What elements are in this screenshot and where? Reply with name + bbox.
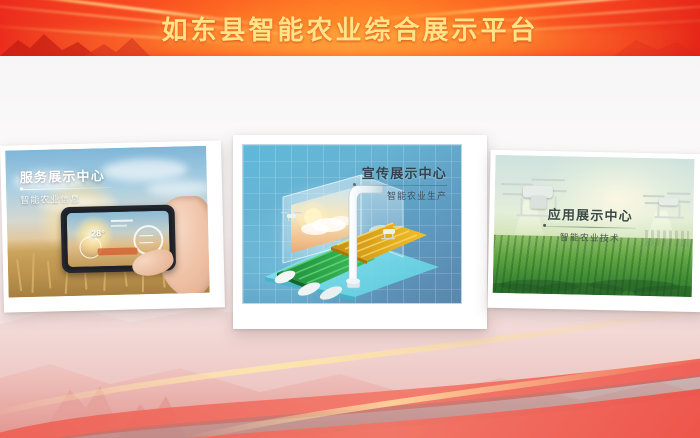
card-service-center[interactable]: 28° 服务展示中心 智能农业信息 [0, 140, 225, 312]
page-root: 如东县智能农业综合展示平台 [0, 0, 700, 438]
title-divider [20, 187, 112, 190]
card-service-center-text: 服务展示中心 智能农业信息 [20, 165, 113, 206]
title-divider [355, 185, 447, 186]
card-subtitle: 智能农业生产 [355, 189, 447, 202]
card-publicity-center-image: 宣传展示中心 智能农业生产 [242, 144, 462, 304]
header-banner: 如东县智能农业综合展示平台 [0, 0, 700, 56]
page-title: 如东县智能农业综合展示平台 [0, 0, 700, 56]
city-skyline [645, 230, 689, 247]
card-title: 应用展示中心 [544, 204, 636, 225]
card-title: 服务展示中心 [20, 165, 112, 186]
card-title: 宣传展示中心 [355, 163, 447, 182]
bullet-dot [353, 183, 356, 186]
hud-panel [98, 247, 138, 255]
title-divider [544, 226, 636, 229]
hud-line [111, 220, 133, 223]
card-service-center-image: 28° 服务展示中心 智能农业信息 [5, 146, 210, 298]
card-publicity-center-text: 宣传展示中心 智能农业生产 [355, 163, 447, 202]
card-application-center-image: 应用展示中心 智能农业技术 [493, 155, 695, 297]
hud-line [111, 225, 127, 227]
bullet-dot [20, 187, 23, 190]
card-publicity-center[interactable]: 宣传展示中心 智能农业生产 [233, 135, 487, 329]
card-subtitle: 智能农业技术 [544, 230, 636, 245]
card-application-center[interactable]: 应用展示中心 智能农业技术 [487, 150, 700, 313]
hud-bars-icon [139, 235, 153, 243]
temperature-readout: 28° [91, 228, 105, 238]
card-subtitle: 智能农业信息 [20, 191, 112, 206]
card-application-center-text: 应用展示中心 智能农业技术 [544, 204, 637, 245]
bullet-dot [543, 224, 546, 227]
drone-icon [642, 190, 691, 221]
